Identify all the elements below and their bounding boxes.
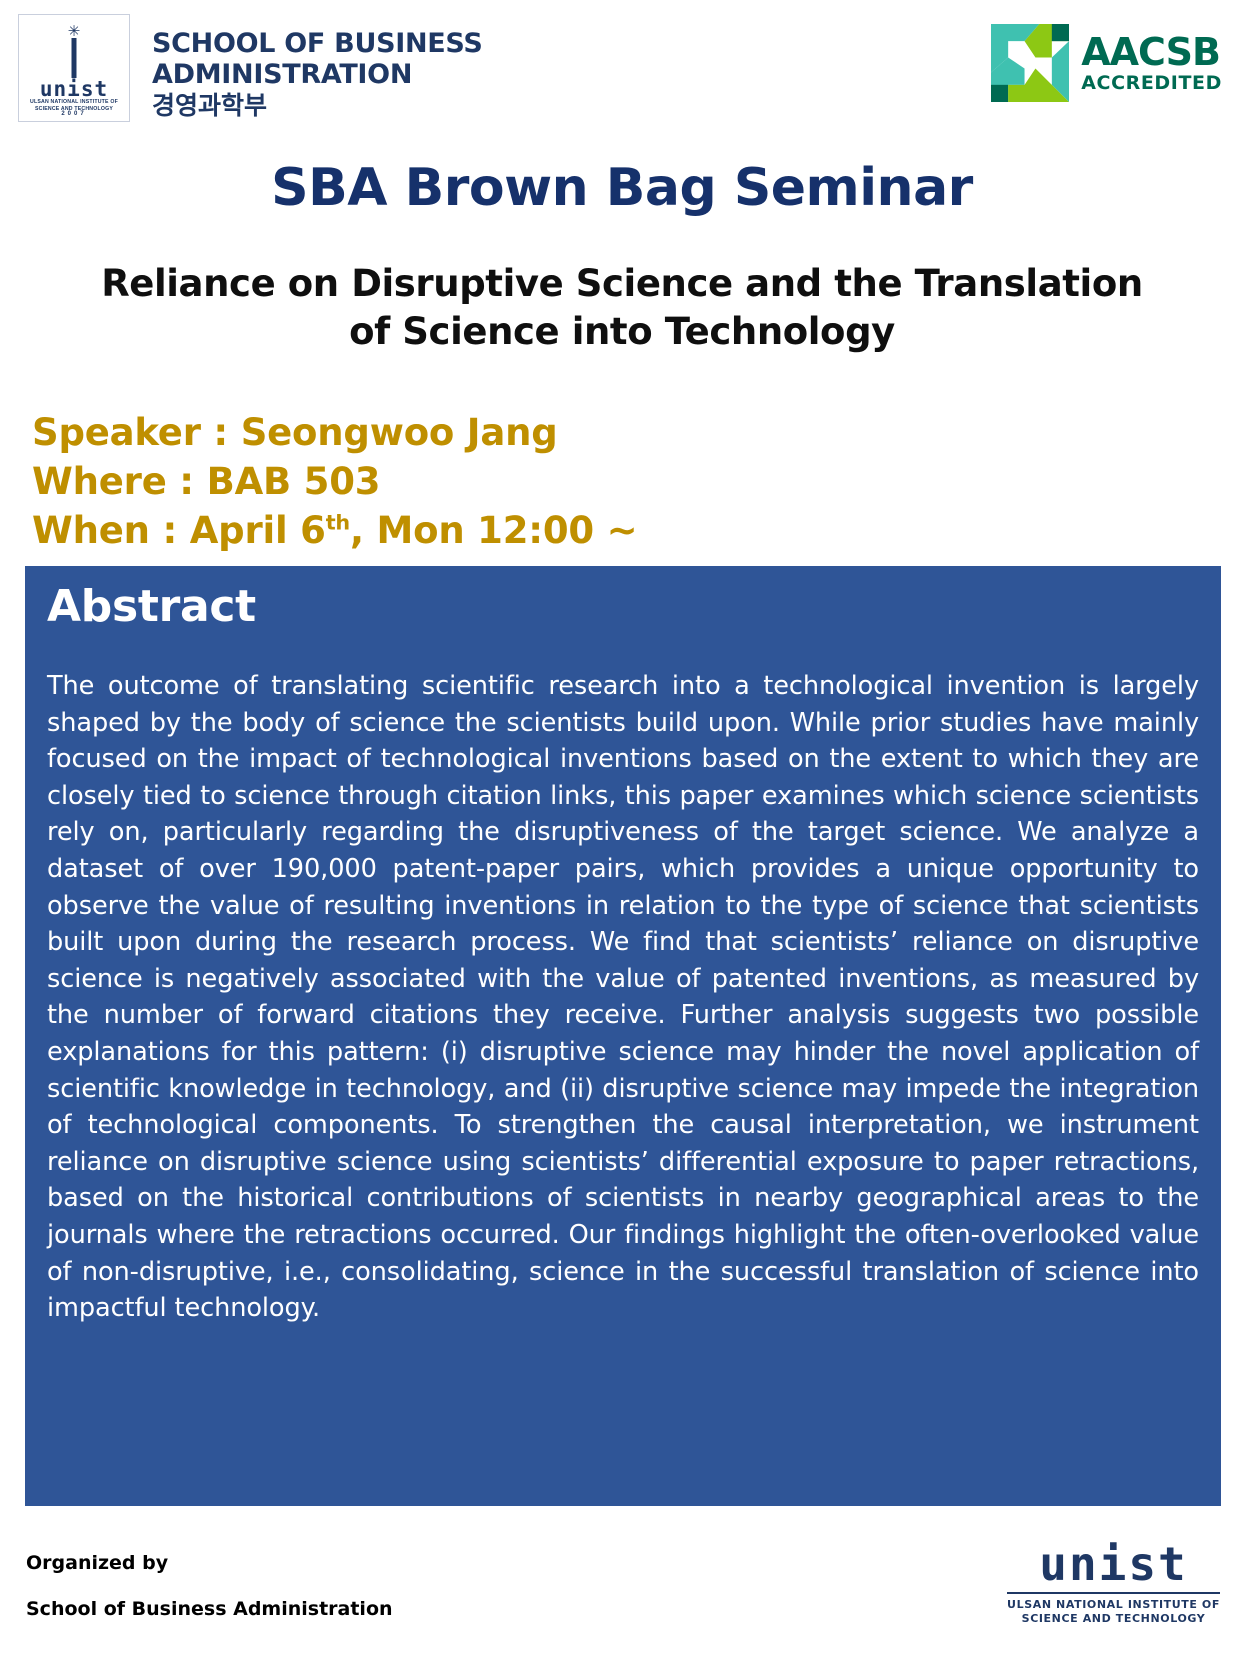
organized-by-label: Organized by bbox=[26, 1540, 393, 1586]
abstract-heading: Abstract bbox=[47, 580, 1199, 634]
unist-footer-logo-icon: unist ULSAN NATIONAL INSTITUTE OF SCIENC… bbox=[1007, 1538, 1220, 1626]
aacsb-status: ACCREDITED bbox=[1081, 74, 1222, 93]
poster-footer: Organized by School of Business Administ… bbox=[0, 1528, 1244, 1638]
unist-footer-tagline-line2: SCIENCE AND TECHNOLOGY bbox=[1007, 1612, 1220, 1626]
aacsb-name: AACSB bbox=[1081, 33, 1222, 71]
aacsb-logo-icon bbox=[991, 24, 1069, 102]
page-title: SBA Brown Bag Seminar bbox=[0, 158, 1244, 218]
school-name-line2: ADMINISTRATION bbox=[152, 59, 482, 90]
detail-speaker-label: Speaker : bbox=[32, 411, 241, 454]
unist-footer-wordmark: unist bbox=[1007, 1538, 1220, 1590]
unist-logo-tagline-line1: ULSAN NATIONAL INSTITUTE OF bbox=[19, 99, 129, 106]
detail-when-label: When : bbox=[32, 509, 190, 552]
organizer-block: Organized by School of Business Administ… bbox=[26, 1540, 393, 1632]
abstract-panel: Abstract The outcome of translating scie… bbox=[25, 566, 1221, 1506]
aacsb-logo-text: AACSB ACCREDITED bbox=[1081, 33, 1222, 93]
abstract-body-text: The outcome of translating scientific re… bbox=[47, 668, 1199, 1327]
unist-footer-rule bbox=[1007, 1592, 1220, 1594]
seminar-subtitle: Reliance on Disruptive Science and the T… bbox=[0, 260, 1244, 356]
detail-where-label: Where : bbox=[32, 460, 207, 503]
detail-when: When : April 6th, Mon 12:00 ~ bbox=[32, 506, 1244, 555]
school-name-block: SCHOOL OF BUSINESS ADMINISTRATION 경영과학부 bbox=[152, 14, 482, 121]
aacsb-accreditation-badge: AACSB ACCREDITED bbox=[991, 24, 1222, 102]
seminar-subtitle-line2: of Science into Technology bbox=[60, 308, 1184, 356]
unist-footer-tagline-line1: ULSAN NATIONAL INSTITUTE OF bbox=[1007, 1598, 1220, 1612]
detail-where: Where : BAB 503 bbox=[32, 457, 1244, 506]
seminar-details: Speaker : Seongwoo Jang Where : BAB 503 … bbox=[0, 408, 1244, 555]
detail-when-date: April 6 bbox=[190, 509, 326, 552]
unist-logo-year: 2007 bbox=[19, 111, 129, 117]
unist-logo-icon: ✳ unist ULSAN NATIONAL INSTITUTE OF SCIE… bbox=[18, 14, 130, 122]
detail-when-time: , Mon 12:00 ~ bbox=[350, 509, 637, 552]
unist-spark-icon: ✳ bbox=[68, 27, 81, 37]
poster-header: ✳ unist ULSAN NATIONAL INSTITUTE OF SCIE… bbox=[0, 0, 1244, 130]
detail-speaker: Speaker : Seongwoo Jang bbox=[32, 408, 1244, 457]
seminar-subtitle-line1: Reliance on Disruptive Science and the T… bbox=[60, 260, 1184, 308]
school-name-line1: SCHOOL OF BUSINESS bbox=[152, 28, 482, 59]
detail-speaker-value: Seongwoo Jang bbox=[241, 411, 558, 454]
school-name-korean: 경영과학부 bbox=[152, 91, 482, 121]
detail-where-value: BAB 503 bbox=[207, 460, 381, 503]
unist-footer-tagline: ULSAN NATIONAL INSTITUTE OF SCIENCE AND … bbox=[1007, 1598, 1220, 1626]
unist-stem-shape bbox=[72, 38, 77, 78]
unist-logo-wordmark: unist bbox=[19, 77, 129, 101]
unist-school-branding: ✳ unist ULSAN NATIONAL INSTITUTE OF SCIE… bbox=[18, 14, 482, 122]
detail-when-ordinal: th bbox=[326, 511, 350, 535]
organizer-name: School of Business Administration bbox=[26, 1586, 393, 1632]
